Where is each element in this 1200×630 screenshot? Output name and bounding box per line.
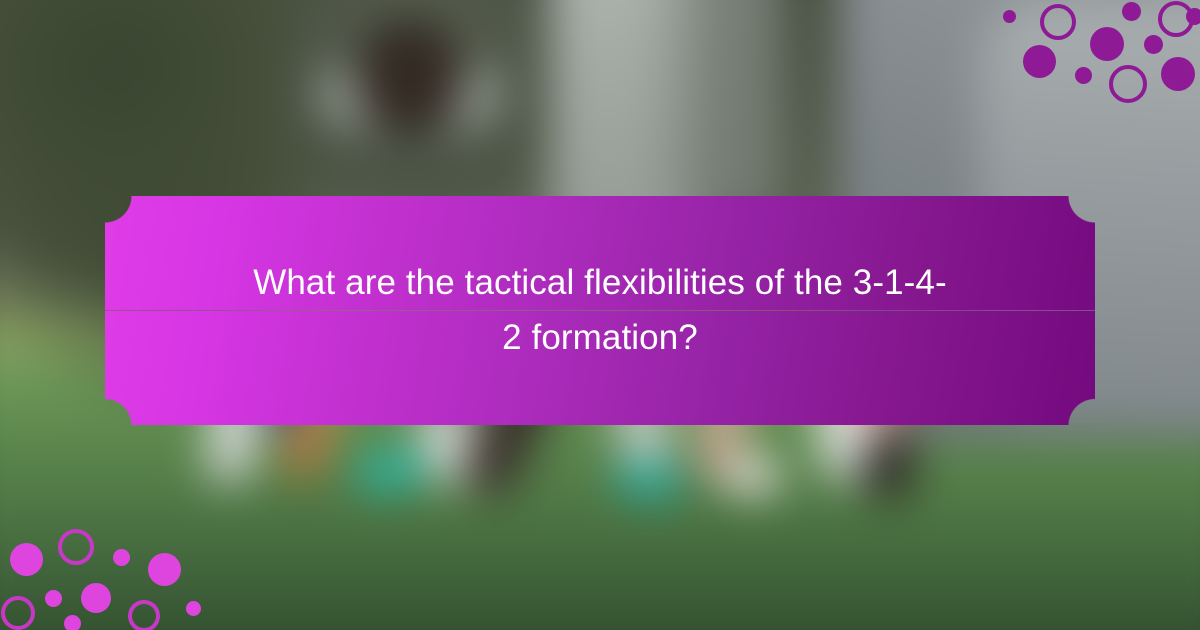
decoration-dot-filled — [10, 543, 43, 576]
decoration-dot-filled — [1023, 45, 1056, 78]
banner-canvas: What are the tactical flexibilities of t… — [0, 0, 1200, 630]
background-player-head — [355, 20, 465, 140]
decoration-dot-filled — [1090, 27, 1124, 61]
decoration-dot-filled — [1144, 35, 1163, 54]
decoration-dot-filled — [81, 583, 111, 613]
decoration-dot-outline — [1040, 4, 1076, 40]
decoration-dot-outline — [1109, 65, 1147, 103]
decoration-dot-filled — [1161, 57, 1195, 91]
decoration-dot-filled — [1122, 2, 1141, 21]
decoration-dot-filled — [64, 615, 81, 630]
decoration-dot-filled — [148, 553, 181, 586]
headline-card: What are the tactical flexibilities of t… — [105, 196, 1095, 425]
decoration-dot-filled — [1075, 67, 1092, 84]
headline-text: What are the tactical flexibilities of t… — [250, 256, 950, 365]
decoration-dot-filled — [45, 590, 62, 607]
decoration-dot-outline — [1, 596, 35, 630]
background-pillar-2 — [660, 0, 780, 220]
decoration-dot-filled — [113, 549, 130, 566]
decoration-dot-filled — [186, 601, 201, 616]
decoration-dot-outline — [58, 529, 94, 565]
decoration-dot-filled — [1186, 8, 1200, 25]
decoration-dot-filled — [1003, 10, 1016, 23]
decoration-dot-outline — [128, 600, 160, 630]
